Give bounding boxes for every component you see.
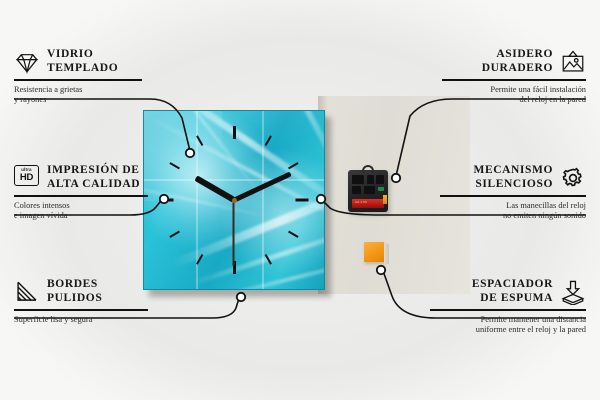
feature-divider [440,195,586,197]
feature-heading: MECANISMO SILENCIOSO [434,164,586,191]
mechanism-detail [364,186,375,194]
mechanism-detail [376,175,384,184]
feature-heading: BORDES PULIDOS [14,278,154,305]
picture-frame-hanger-icon [560,49,586,75]
mechanism-detail [352,186,361,194]
infographic-stage: AA 1.5V [0,0,600,400]
feature-description: Permite mantener una distancia uniforme … [424,315,586,336]
feature-title: ESPACIADOR DE ESPUMA [472,278,553,305]
foam-spacer-side [384,244,389,264]
feature-divider [14,309,148,311]
feature-divider [430,309,586,311]
polished-edge-icon [14,279,40,305]
feature-description: Colores intensos e imagen vívida [14,201,154,222]
clock-tick [288,231,299,238]
feature-heading: ESPACIADOR DE ESPUMA [424,278,586,305]
ultra-hd-badge-icon: ultra HD [14,165,40,191]
feature-heading: ASIDERO DURADERO [436,48,586,75]
feature-divider [14,195,148,197]
feature-title: IMPRESIÓN DE ALTA CALIDAD [47,164,140,191]
feature-heading: ultra HD IMPRESIÓN DE ALTA CALIDAD [14,164,154,191]
clock-tick [196,254,203,265]
clock-tick [161,199,174,202]
mechanism-detail [352,175,364,184]
feature-mecanismo-silencioso[interactable]: MECANISMO SILENCIOSO Las manecillas del … [434,164,586,222]
clock-center-pivot [232,198,237,203]
feature-description: Las manecillas del reloj no emiten ningú… [434,201,586,222]
feature-vidrio-templado[interactable]: VIDRIO TEMPLADO Resistencia a grietas y … [14,48,148,106]
feature-divider [442,79,586,81]
feature-heading: VIDRIO TEMPLADO [14,48,148,75]
feature-impresion-alta-calidad[interactable]: ultra HD IMPRESIÓN DE ALTA CALIDAD Color… [14,164,154,222]
battery-terminal [383,195,387,204]
feature-description: Resistencia a grietas y rayones [14,85,148,106]
mechanism-detail [367,175,374,184]
clock-glass-face [143,110,325,290]
clock-tick [296,199,309,202]
feature-description: Permite una fácil instalación del reloj … [436,85,586,106]
foam-spacer-arrow-icon [560,279,586,305]
product-clock [143,110,325,290]
mechanism-detail [378,187,384,191]
feature-bordes-pulidos[interactable]: BORDES PULIDOS Superficie lisa y segura [14,278,154,325]
mechanism-hanger-loop [362,165,374,173]
clock-tick [265,254,272,265]
feature-asidero-duradero[interactable]: ASIDERO DURADERO Permite una fácil insta… [436,48,586,106]
clock-tick [233,126,236,139]
feature-divider [14,79,142,81]
clock-tick [169,231,180,238]
clock-tick [288,162,299,169]
clock-tick [265,135,272,146]
feature-description: Superficie lisa y segura [14,315,154,326]
feature-title: ASIDERO DURADERO [482,48,553,75]
clock-tick [196,135,203,146]
feature-title: VIDRIO TEMPLADO [47,48,118,75]
feature-title: BORDES PULIDOS [47,278,102,305]
battery: AA 1.5V [352,199,384,208]
gear-icon [560,165,586,191]
feature-title: MECANISMO SILENCIOSO [473,164,553,191]
clock-tick [169,162,180,169]
diamond-icon [14,49,40,75]
feature-espaciador-espuma[interactable]: ESPACIADOR DE ESPUMA Permite mantener un… [424,278,586,336]
clock-mechanism: AA 1.5V [348,170,388,212]
battery-label: AA 1.5V [355,200,367,204]
foam-spacer [364,242,384,262]
